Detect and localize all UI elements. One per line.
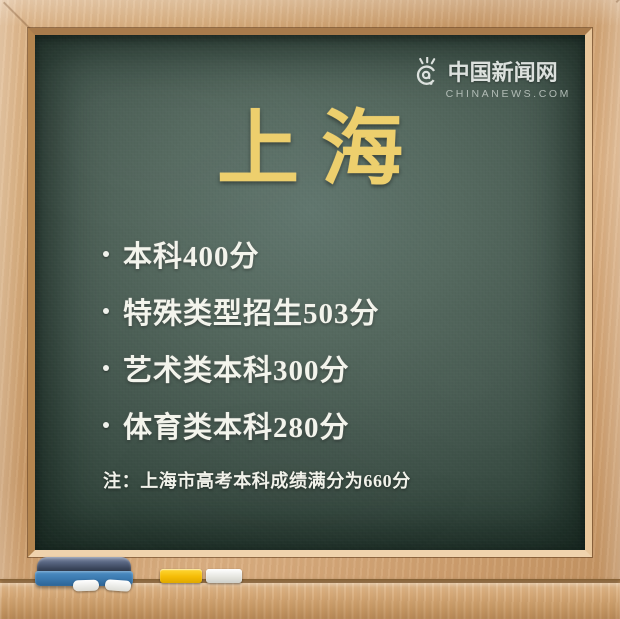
watermark-chinese-text: 中国新闻网 — [448, 62, 558, 84]
bullet-dot-icon — [103, 422, 109, 428]
list-item: 本科400分 — [103, 225, 545, 282]
chalk-stub — [105, 579, 132, 592]
at-sign-logo-icon — [412, 57, 443, 88]
blackboard-eraser — [35, 557, 133, 587]
list-item: 艺术类本科300分 — [103, 339, 545, 396]
list-item: 特殊类型招生503分 — [103, 282, 545, 339]
yellow-chalk — [160, 569, 202, 583]
list-item-label: 艺术类本科300分 — [123, 347, 350, 389]
bullet-dot-icon — [103, 251, 109, 257]
score-list: 本科400分 特殊类型招生503分 艺术类本科300分 体育类本科280分 — [103, 225, 545, 453]
province-title: 上海 — [35, 105, 585, 195]
chalk-stub — [73, 580, 99, 592]
list-item-label: 本科400分 — [123, 233, 260, 275]
list-item-label: 体育类本科280分 — [123, 404, 350, 446]
watermark-row: 中国新闻网 — [412, 57, 558, 88]
list-item-label: 特殊类型招生503分 — [123, 290, 380, 332]
footnote: 注：上海市高考本科成绩满分为660分 — [103, 467, 411, 493]
chalkboard-infographic: 中国新闻网 CHINANEWS.COM 上海 本科400分 特殊类型招生503分… — [0, 0, 620, 619]
chinanews-watermark: 中国新闻网 CHINANEWS.COM — [412, 57, 571, 100]
bullet-dot-icon — [103, 308, 109, 314]
chalkboard-surface: 中国新闻网 CHINANEWS.COM 上海 本科400分 特殊类型招生503分… — [35, 35, 585, 550]
watermark-english-text: CHINANEWS.COM — [446, 89, 571, 100]
list-item: 体育类本科280分 — [103, 396, 545, 453]
white-chalk — [206, 569, 242, 583]
bullet-dot-icon — [103, 365, 109, 371]
